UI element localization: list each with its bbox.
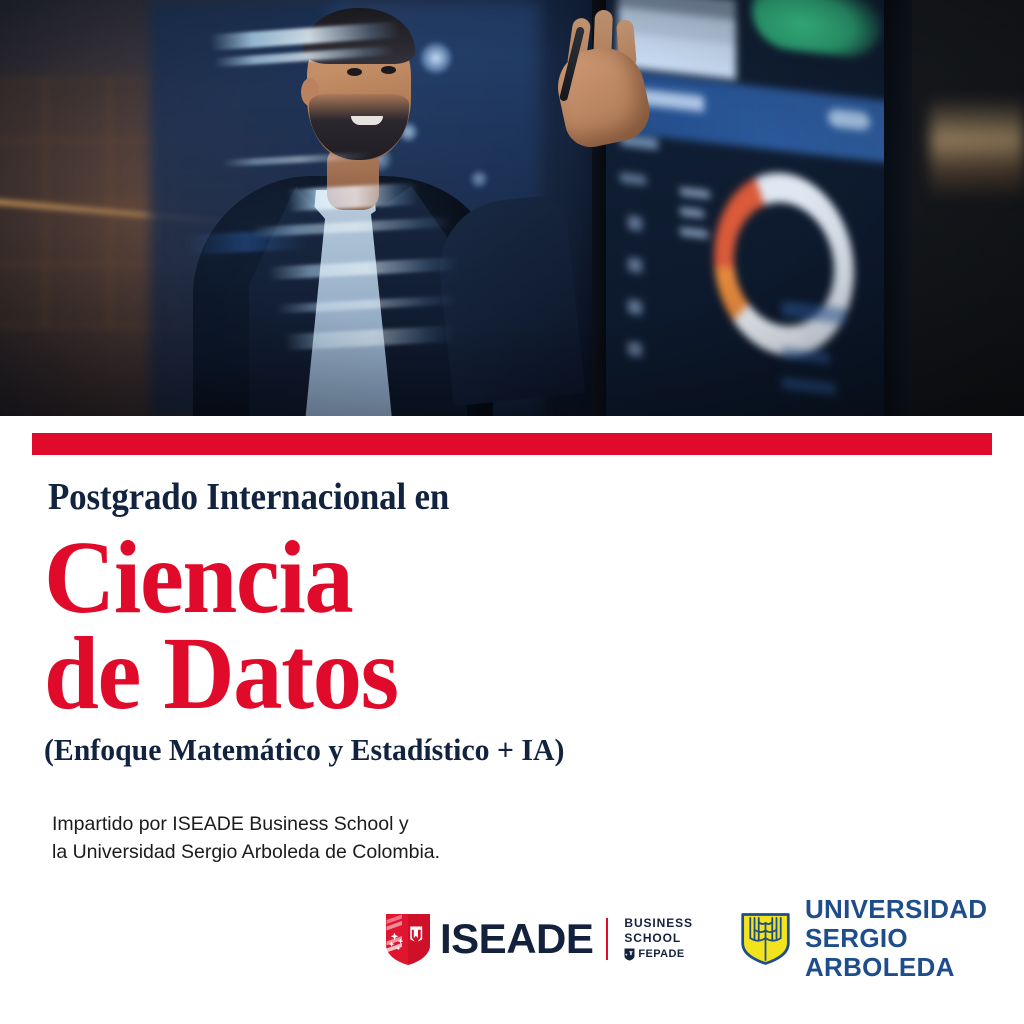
provider-byline: Impartido por ISEADE Business School y l… (52, 810, 440, 867)
iseade-shield-icon (385, 912, 431, 966)
sergio-arboleda-wordmark: UNIVERSIDAD SERGIO ARBOLEDA (805, 895, 1024, 982)
provider-byline-line-2: la Universidad Sergio Arboleda de Colomb… (52, 838, 440, 866)
fepade-shield-icon (624, 948, 635, 961)
partner-logo-row: ISEADE BUSINESS SCHOOL FEPADE (385, 895, 1024, 982)
fepade-wordmark: FEPADE (638, 948, 684, 962)
sergio-arboleda-line-2: SERGIO ARBOLEDA (805, 924, 1024, 982)
iseade-subtitle-block: BUSINESS SCHOOL FEPADE (624, 916, 693, 962)
iseade-wordmark: ISEADE (440, 918, 593, 960)
hero-scene (0, 0, 1024, 416)
sergio-arboleda-logo[interactable]: UNIVERSIDAD SERGIO ARBOLEDA (741, 895, 1024, 982)
promotional-poster: Postgrado Internacional en Ciencia de Da… (0, 0, 1024, 1024)
sergio-arboleda-shield-icon (741, 908, 790, 970)
content-section: Postgrado Internacional en Ciencia de Da… (0, 416, 1024, 1024)
page-title-line-1: Ciencia (44, 530, 633, 626)
iseade-subtitle-line-1: BUSINESS (624, 916, 693, 931)
iseade-logo[interactable]: ISEADE BUSINESS SCHOOL FEPADE (385, 912, 693, 966)
program-subtitle: (Enfoque Matemático y Estadístico + IA) (44, 733, 564, 767)
provider-byline-line-1: Impartido por ISEADE Business School y (52, 810, 440, 838)
sergio-arboleda-line-1: UNIVERSIDAD (805, 895, 1024, 924)
iseade-subtitle-line-2: SCHOOL (624, 931, 693, 946)
page-title: Ciencia de Datos (44, 530, 633, 721)
fepade-affiliate: FEPADE (624, 948, 693, 962)
hero-photo (0, 0, 1024, 416)
red-accent-rule (32, 433, 992, 455)
program-eyebrow: Postgrado Internacional en (48, 478, 449, 516)
photo-vignette (0, 0, 1024, 416)
page-title-line-2: de Datos (44, 626, 633, 722)
iseade-divider (606, 918, 608, 960)
